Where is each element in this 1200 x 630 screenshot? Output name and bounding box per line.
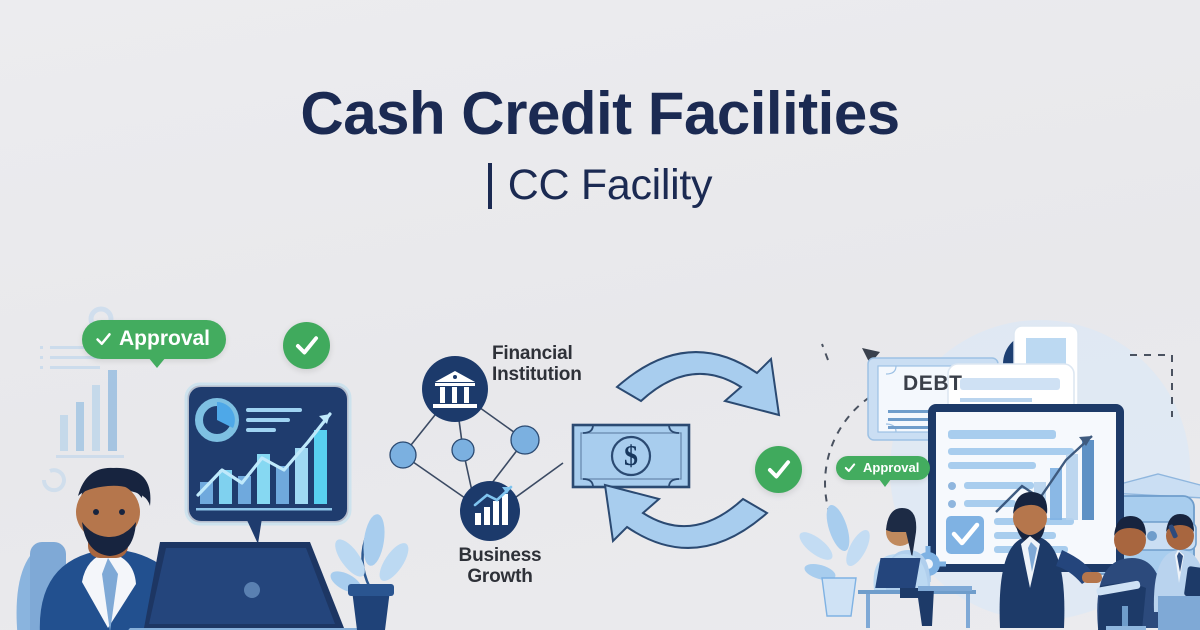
approval-badge-right: Approval <box>836 456 930 480</box>
svg-text:$: $ <box>624 441 638 472</box>
dollar-banknote-icon: $ <box>573 425 689 487</box>
curved-arrow-right-icon <box>617 352 779 415</box>
fi-label-line2: Institution <box>492 364 582 385</box>
network-node <box>452 439 474 461</box>
business-growth-label: Business Growth <box>452 545 548 588</box>
potted-plant-icon <box>795 502 874 616</box>
bg-label-line1: Business <box>452 545 548 566</box>
page-title: Cash Credit Facilities <box>0 82 1200 145</box>
poster-canvas: Cash Credit Facilities CC Facility <box>0 0 1200 630</box>
page-subtitle: CC Facility <box>508 161 713 210</box>
debt-label: DEBT <box>903 372 963 396</box>
approval-badge-left: Approval <box>82 320 226 359</box>
bank-icon <box>422 356 488 422</box>
laptop-icon <box>118 542 368 630</box>
subtitle-separator-bar <box>488 163 492 209</box>
approval-badge-left-label: Approval <box>119 327 210 351</box>
badge-tail <box>879 479 891 487</box>
fi-label-line1: Financial <box>492 343 582 364</box>
network-node <box>511 426 539 454</box>
check-circle-icon <box>294 333 320 359</box>
network-node <box>390 442 416 468</box>
header: Cash Credit Facilities CC Facility <box>0 0 1200 210</box>
financial-institution-label: Financial Institution <box>492 343 582 386</box>
curved-arrow-left-icon <box>605 485 767 548</box>
check-circle-icon <box>766 457 792 483</box>
subtitle-row: CC Facility <box>0 161 1200 210</box>
check-circle-badge-left <box>283 322 330 369</box>
check-icon <box>95 331 112 348</box>
badge-tail <box>148 357 166 368</box>
analytics-chart-icon <box>186 384 350 544</box>
bg-label-line2: Growth <box>452 566 548 587</box>
growth-chart-icon <box>460 481 520 541</box>
check-icon <box>844 462 856 474</box>
check-circle-badge-middle <box>755 446 802 493</box>
approval-badge-right-label: Approval <box>863 460 919 475</box>
